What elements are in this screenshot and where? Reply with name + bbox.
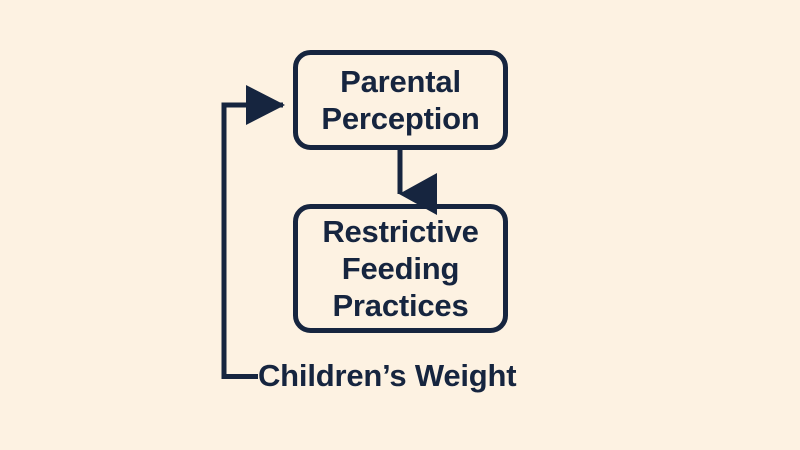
node-childrens-weight: Children’s Weight bbox=[258, 355, 538, 397]
node-restrictive-feeding-practices: Restrictive Feeding Practices bbox=[293, 204, 508, 333]
diagram-canvas: Parental Perception Restrictive Feeding … bbox=[0, 0, 800, 450]
node-restrictive-feeding-practices-label: Restrictive Feeding Practices bbox=[322, 213, 478, 324]
node-childrens-weight-label: Children’s Weight bbox=[258, 355, 516, 397]
node-parental-perception: Parental Perception bbox=[293, 50, 508, 150]
arrow-weight-to-perception bbox=[224, 105, 283, 377]
node-parental-perception-label: Parental Perception bbox=[321, 63, 479, 137]
